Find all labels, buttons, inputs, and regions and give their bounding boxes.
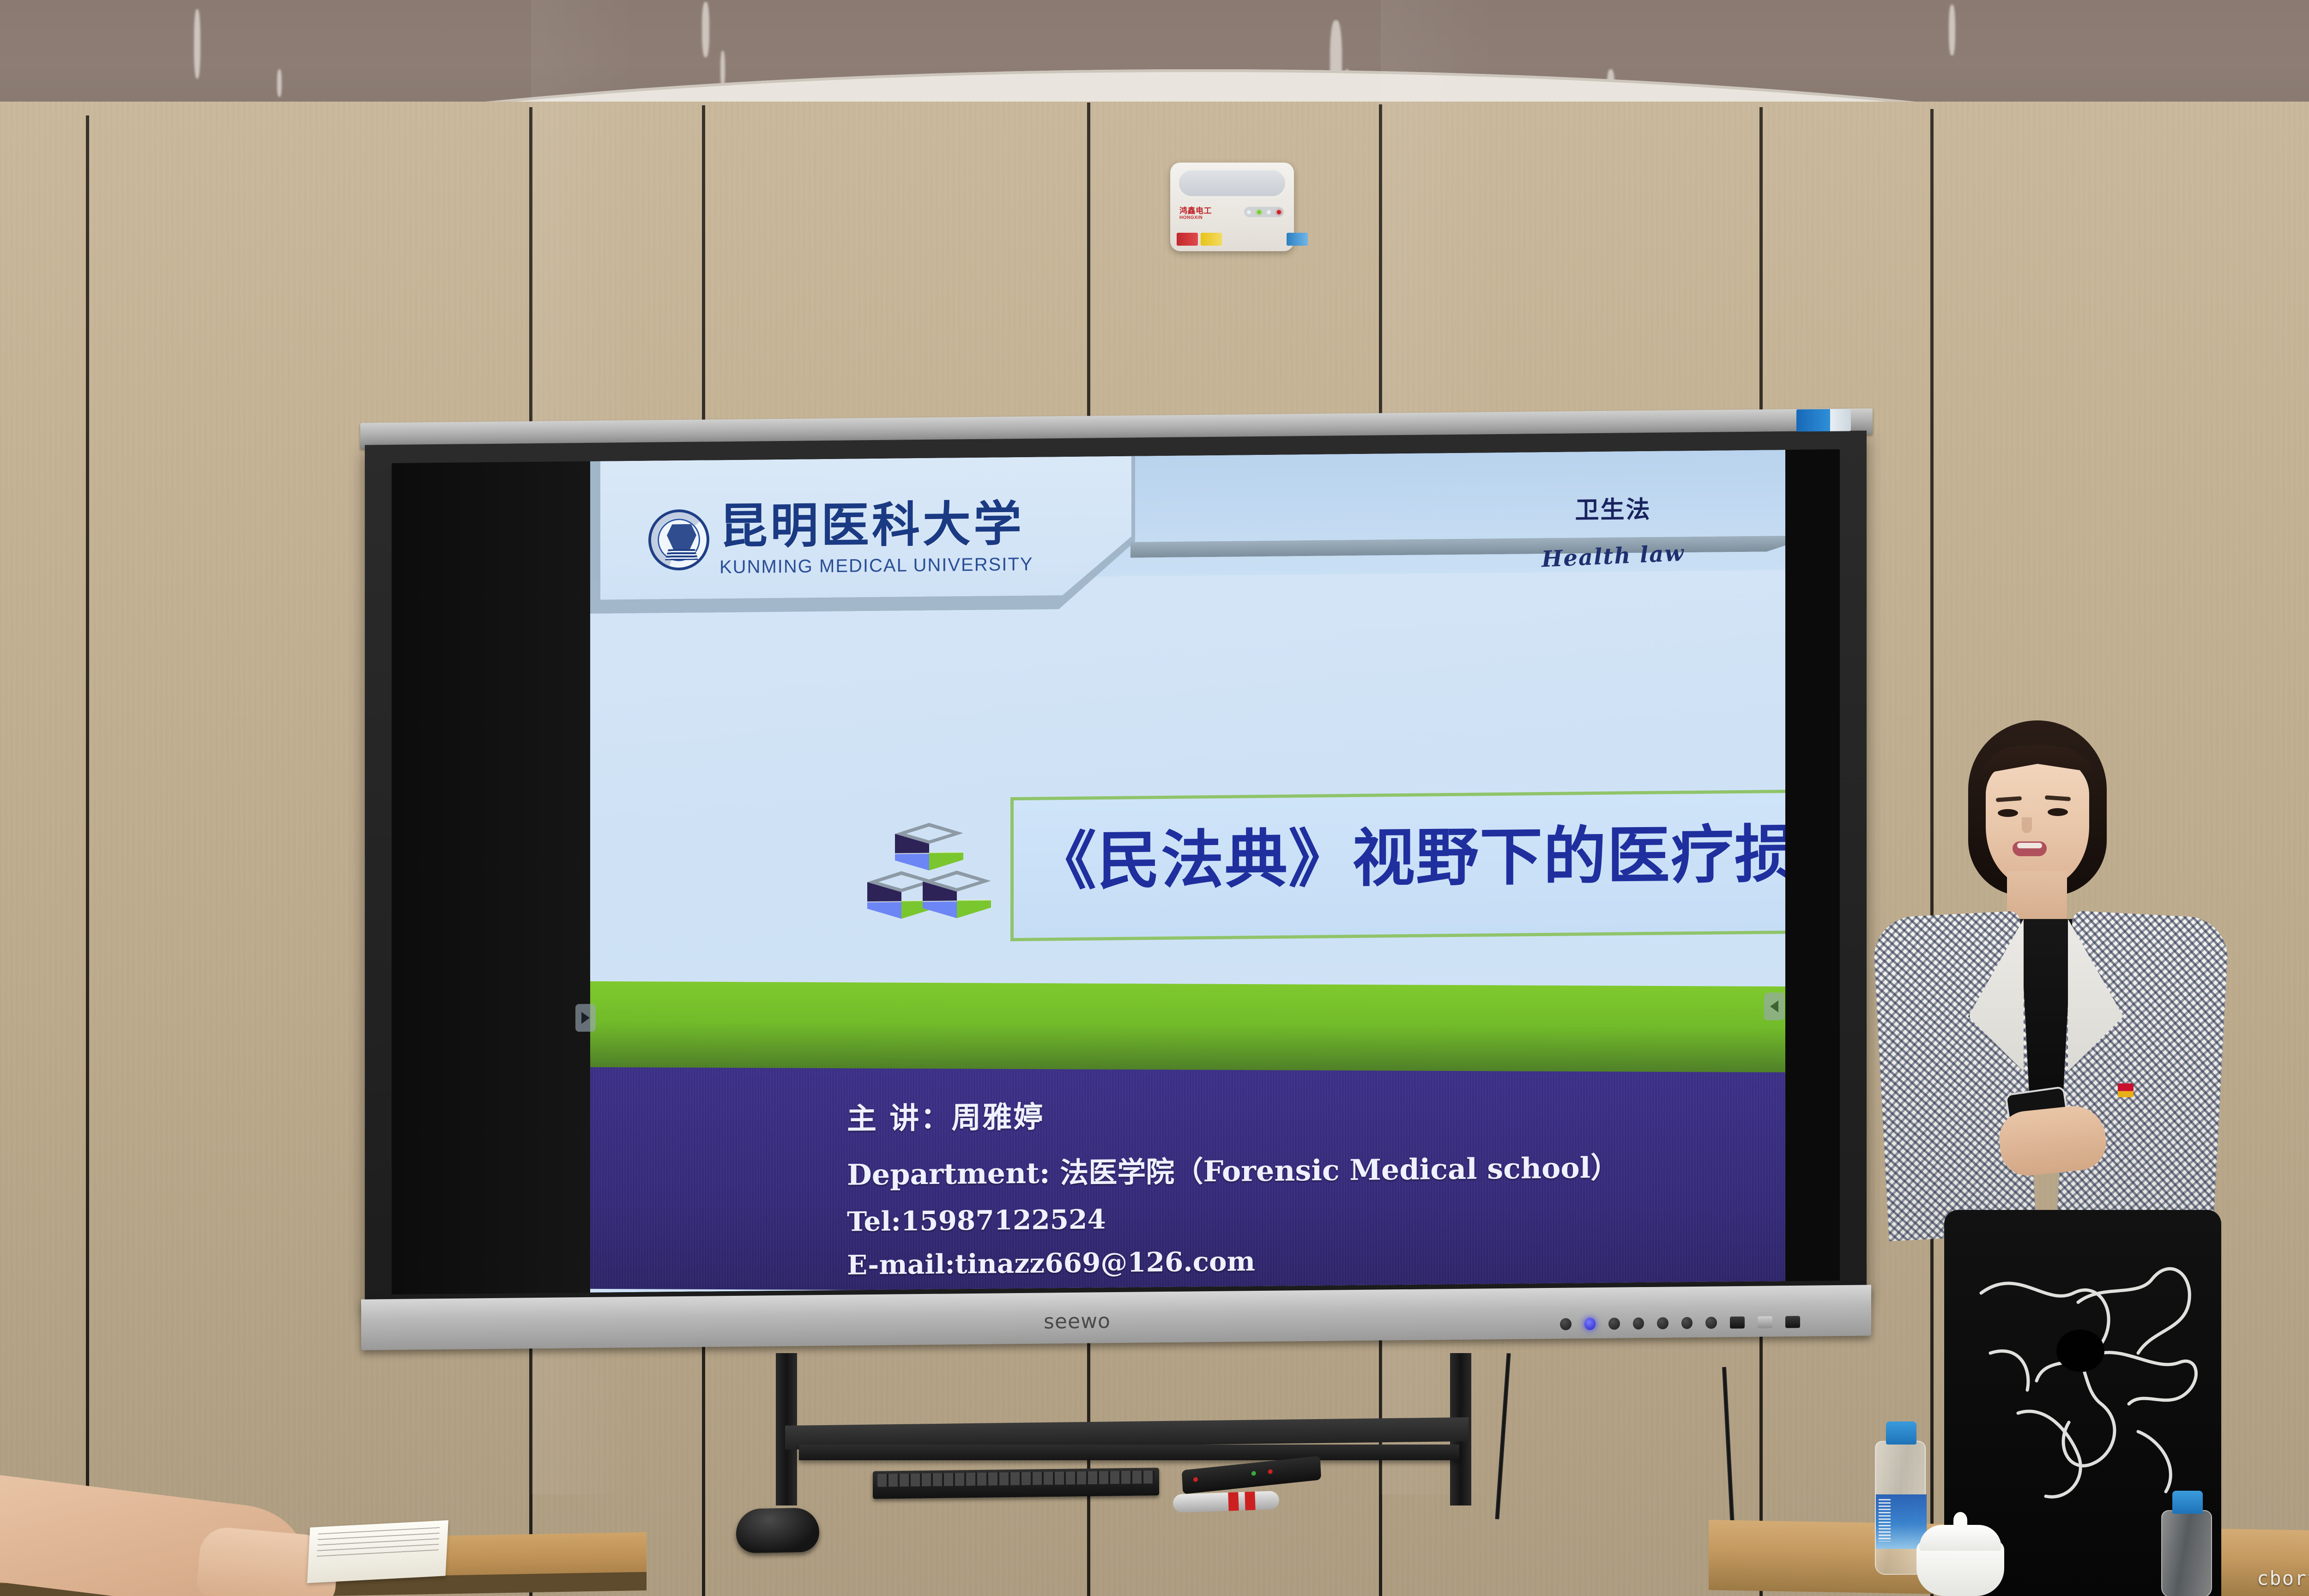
bottle-cap — [2172, 1491, 2203, 1514]
power-button[interactable] — [1584, 1318, 1596, 1330]
course-title-cn: 卫生法 — [1541, 490, 1685, 526]
display-spec-sticker — [1796, 409, 1851, 431]
presentation-slide[interactable]: 昆明医科大学 KUNMING MEDICAL UNIVERSITY 卫生法 He… — [590, 450, 1785, 1293]
presenter-tel: Tel:15987122524 — [847, 1197, 1771, 1237]
screen-letterbox-right — [1785, 449, 1840, 1281]
presenter-name: 主 讲：周雅婷 — [847, 1086, 1771, 1137]
led-white-icon — [1267, 210, 1271, 214]
led-indicator-group — [1244, 207, 1284, 217]
menu-button[interactable] — [1560, 1318, 1572, 1330]
display-screen[interactable]: 昆明医科大学 KUNMING MEDICAL UNIVERSITY 卫生法 He… — [392, 449, 1840, 1294]
teacup-knob — [1953, 1512, 1967, 1529]
lidded-teacup — [1916, 1541, 2004, 1596]
slide-title: 《民法典》视野下的医疗损害赔偿 — [1034, 822, 1785, 895]
course-title-en: Health law — [1541, 540, 1685, 573]
interactive-whiteboard[interactable]: 昆明医科大学 KUNMING MEDICAL UNIVERSITY 卫生法 He… — [365, 438, 1867, 1354]
university-logo: 昆明医科大学 KUNMING MEDICAL UNIVERSITY — [648, 500, 1033, 577]
volume-up-button[interactable] — [1657, 1317, 1668, 1329]
face — [1986, 753, 2089, 887]
lamp-panel-icon — [1178, 169, 1287, 198]
usb-port[interactable] — [1730, 1317, 1745, 1329]
led-green-icon — [1257, 210, 1261, 214]
floral-line-art — [1963, 1238, 2203, 1552]
bottle-cap — [1886, 1421, 1916, 1445]
emergency-light-device: 鸿鑫电工 HONGXIN — [1170, 163, 1294, 251]
display-button-row[interactable] — [1560, 1312, 1800, 1335]
laser-pointer[interactable] — [1173, 1491, 1279, 1513]
mouth — [2013, 841, 2047, 856]
presenter-info-block: 主 讲：周雅婷 Department: 法医学院（Forensic Medica… — [847, 1086, 1771, 1281]
teacup-lid — [1919, 1525, 2001, 1551]
home-button[interactable] — [1681, 1317, 1693, 1329]
back-button[interactable] — [1705, 1317, 1717, 1329]
photo-scene: 鸿鑫电工 HONGXIN — [0, 0, 2309, 1596]
presenter-department: Department: 法医学院（Forensic Medical school… — [847, 1143, 1771, 1193]
lapel-pin-icon — [2118, 1083, 2134, 1097]
display-brand-label: seewo — [1044, 1309, 1111, 1333]
led-white-icon — [1247, 210, 1251, 214]
chevron-left-icon — [1770, 1000, 1778, 1012]
bottle-label — [1876, 1494, 1927, 1549]
water-bottle — [2161, 1510, 2212, 1596]
mouse[interactable] — [736, 1507, 819, 1553]
slide-green-band — [590, 981, 1785, 1077]
three-cubes-icon — [867, 822, 992, 962]
chevron-right-icon — [581, 1012, 590, 1024]
hdmi-port[interactable] — [1758, 1316, 1772, 1328]
audio-port[interactable] — [1785, 1316, 1800, 1328]
led-red-icon — [1277, 210, 1281, 214]
lectern-shelf — [799, 1445, 1459, 1460]
certification-stickers — [1177, 233, 1222, 246]
sidebar-toggle-left[interactable] — [575, 1004, 596, 1032]
open-book — [307, 1520, 448, 1583]
university-name-en: KUNMING MEDICAL UNIVERSITY — [719, 555, 1033, 577]
university-seal-icon — [648, 509, 709, 570]
keyboard[interactable] — [873, 1468, 1159, 1499]
course-title-block: 卫生法 Health law — [1541, 490, 1685, 570]
image-watermark: cbortx.com — [2257, 1567, 2309, 1590]
volume-down-button[interactable] — [1633, 1318, 1644, 1330]
university-name-cn: 昆明医科大学 — [719, 500, 1033, 551]
screen-letterbox-left — [392, 461, 590, 1294]
device-brand-label: 鸿鑫电工 HONGXIN — [1179, 207, 1212, 220]
source-button[interactable] — [1608, 1318, 1620, 1330]
sidebar-toggle-right[interactable] — [1764, 992, 1784, 1020]
